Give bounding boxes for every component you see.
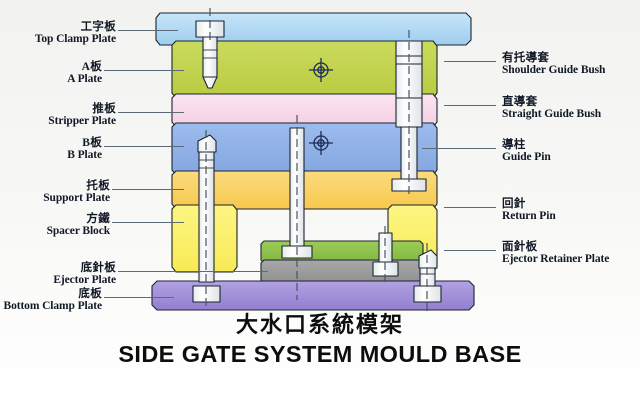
leader-top-clamp-plate [118,30,178,31]
label-cn: 導柱 [502,139,551,151]
leader-return-pin [444,207,496,208]
label-en: Ejector Plate [53,274,116,286]
leader-ejector-plate [118,271,268,272]
label-cn: 方鐵 [47,213,110,225]
label-en: B Plate [67,149,102,161]
label-cn: 底針板 [53,262,116,274]
label-cn: 回針 [502,198,556,210]
leader-shoulder-guide-bush [444,61,496,62]
label-shoulder-guide-bush: 有托導套 Shoulder Guide Bush [502,52,605,76]
label-en: Ejector Retainer Plate [502,253,609,265]
label-cn: 工字板 [35,21,116,33]
label-guide-pin: 導柱 Guide Pin [502,139,551,163]
label-en: Guide Pin [502,151,551,163]
label-b-plate: B板 B Plate [67,137,102,161]
label-bottom-clamp-plate: 底板 Bottom Clamp Plate [4,288,103,312]
label-en: A Plate [67,73,102,85]
leader-stripper-plate [118,112,184,113]
label-cn: 有托導套 [502,52,605,64]
label-cn: 面針板 [502,241,609,253]
label-en: Top Clamp Plate [35,33,116,45]
leader-a-plate [104,70,184,71]
leader-bottom-clamp-plate [104,297,174,298]
label-en: Shoulder Guide Bush [502,64,605,76]
label-cn: B板 [67,137,102,149]
label-cn: 底板 [4,288,103,300]
label-top-clamp-plate: 工字板 Top Clamp Plate [35,21,116,45]
label-en: Spacer Block [47,225,110,237]
leader-guide-pin [422,148,496,149]
label-en: Straight Guide Bush [502,108,601,120]
plate-ejector [261,260,423,284]
sprue-bush-body [203,37,217,77]
leader-support-plate [112,189,184,190]
title-english: SIDE GATE SYSTEM MOULD BASE [0,340,640,368]
label-return-pin: 回針 Return Pin [502,198,556,222]
leader-spacer-block [112,222,184,223]
label-en: Stripper Plate [48,115,116,127]
label-spacer-block: 方鐵 Spacer Block [47,213,110,237]
label-cn: 托板 [43,180,110,192]
label-straight-guide-bush: 直導套 Straight Guide Bush [502,96,601,120]
label-cn: 推板 [48,103,116,115]
diagram-title: 大水口系統模架 SIDE GATE SYSTEM MOULD BASE [0,312,640,368]
leader-straight-guide-bush [444,105,496,106]
label-support-plate: 托板 Support Plate [43,180,110,204]
label-a-plate: A板 A Plate [67,61,102,85]
label-en: Bottom Clamp Plate [4,300,103,312]
label-cn: 直導套 [502,96,601,108]
label-en: Return Pin [502,210,556,222]
title-chinese: 大水口系統模架 [0,312,640,340]
leader-b-plate [104,146,184,147]
label-ejector-retainer-plate: 面針板 Ejector Retainer Plate [502,241,609,265]
label-cn: A板 [67,61,102,73]
label-stripper-plate: 推板 Stripper Plate [48,103,116,127]
label-ejector-plate: 底針板 Ejector Plate [53,262,116,286]
label-en: Support Plate [43,192,110,204]
mould-base-diagram-page: 工字板 Top Clamp Plate A板 A Plate 推板 Stripp… [0,0,640,410]
leader-ejector-retainer-plate [444,250,496,251]
